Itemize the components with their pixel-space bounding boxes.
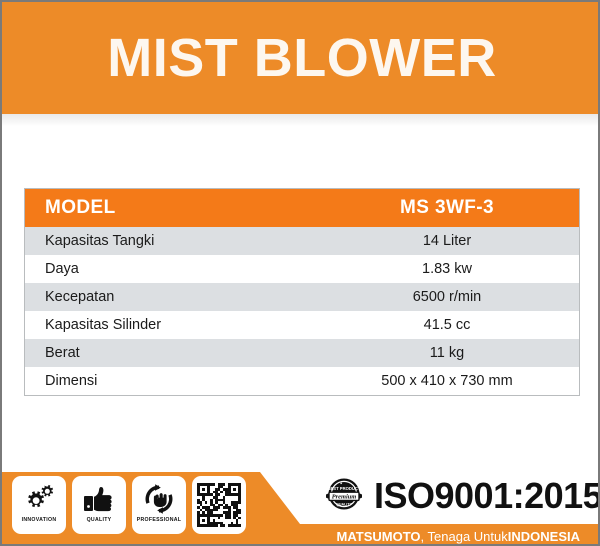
- spec-label: Berat: [25, 345, 355, 361]
- product-spec-card: MIST BLOWER MODEL MS 3WF-3 Kapasitas Tan…: [0, 0, 600, 546]
- spec-value: 500 x 410 x 730 mm: [355, 373, 579, 389]
- spec-value: 11 kg: [355, 345, 579, 361]
- thumbs-up-icon: [82, 480, 116, 518]
- tagline-brand: MATSUMOTO: [337, 529, 421, 544]
- page-title: MIST BLOWER: [107, 31, 496, 85]
- svg-text:Premium: Premium: [332, 493, 357, 500]
- table-row: Berat 11 kg: [25, 339, 579, 367]
- specification-table: MODEL MS 3WF-3 Kapasitas Tangki 14 Liter…: [24, 188, 580, 396]
- spec-label: Daya: [25, 261, 355, 277]
- table-row: Dimensi 500 x 410 x 730 mm: [25, 367, 579, 395]
- svg-text:BEST PRODUCT: BEST PRODUCT: [327, 486, 360, 491]
- spec-label: Kapasitas Silinder: [25, 317, 355, 333]
- spec-value: 41.5 cc: [355, 317, 579, 333]
- qr-code-icon: [197, 480, 241, 530]
- table-header-row: MODEL MS 3WF-3: [25, 189, 579, 227]
- gears-icon: [22, 480, 56, 518]
- table-header-label: MODEL: [25, 197, 355, 219]
- table-row: Kapasitas Tangki 14 Liter: [25, 227, 579, 255]
- fist-arrows-icon: [142, 480, 176, 518]
- table-row: Kapasitas Silinder 41.5 cc: [25, 311, 579, 339]
- svg-text:QUALITY: QUALITY: [336, 503, 352, 507]
- footer-tagline: MATSUMOTO, Tenaga Untuk INDONESIA: [2, 524, 600, 546]
- spec-label: Kecepatan: [25, 289, 355, 305]
- iso-certification: BEST PRODUCT QUALITY Premium ISO9001:201…: [320, 474, 600, 518]
- tagline-middle: , Tenaga Untuk: [421, 529, 508, 544]
- banner-shadow-divider: [2, 114, 600, 126]
- iso-text: ISO9001:2015: [374, 478, 600, 514]
- spec-value: 6500 r/min: [355, 289, 579, 305]
- badge-label: QUALITY: [87, 518, 112, 523]
- badge-label: INNOVATION: [22, 518, 57, 523]
- spec-label: Kapasitas Tangki: [25, 233, 355, 249]
- tagline-country: INDONESIA: [508, 529, 580, 544]
- spec-label: Dimensi: [25, 373, 355, 389]
- table-row: Daya 1.83 kw: [25, 255, 579, 283]
- footer-band: INNOVATION QUALITY: [2, 472, 600, 546]
- premium-seal-icon: BEST PRODUCT QUALITY Premium: [320, 474, 368, 518]
- table-header-value: MS 3WF-3: [355, 197, 579, 219]
- badge-label: PROFESSIONAL: [137, 518, 182, 523]
- spec-value: 1.83 kw: [355, 261, 579, 277]
- spec-value: 14 Liter: [355, 233, 579, 249]
- table-row: Kecepatan 6500 r/min: [25, 283, 579, 311]
- title-banner: MIST BLOWER: [2, 2, 600, 114]
